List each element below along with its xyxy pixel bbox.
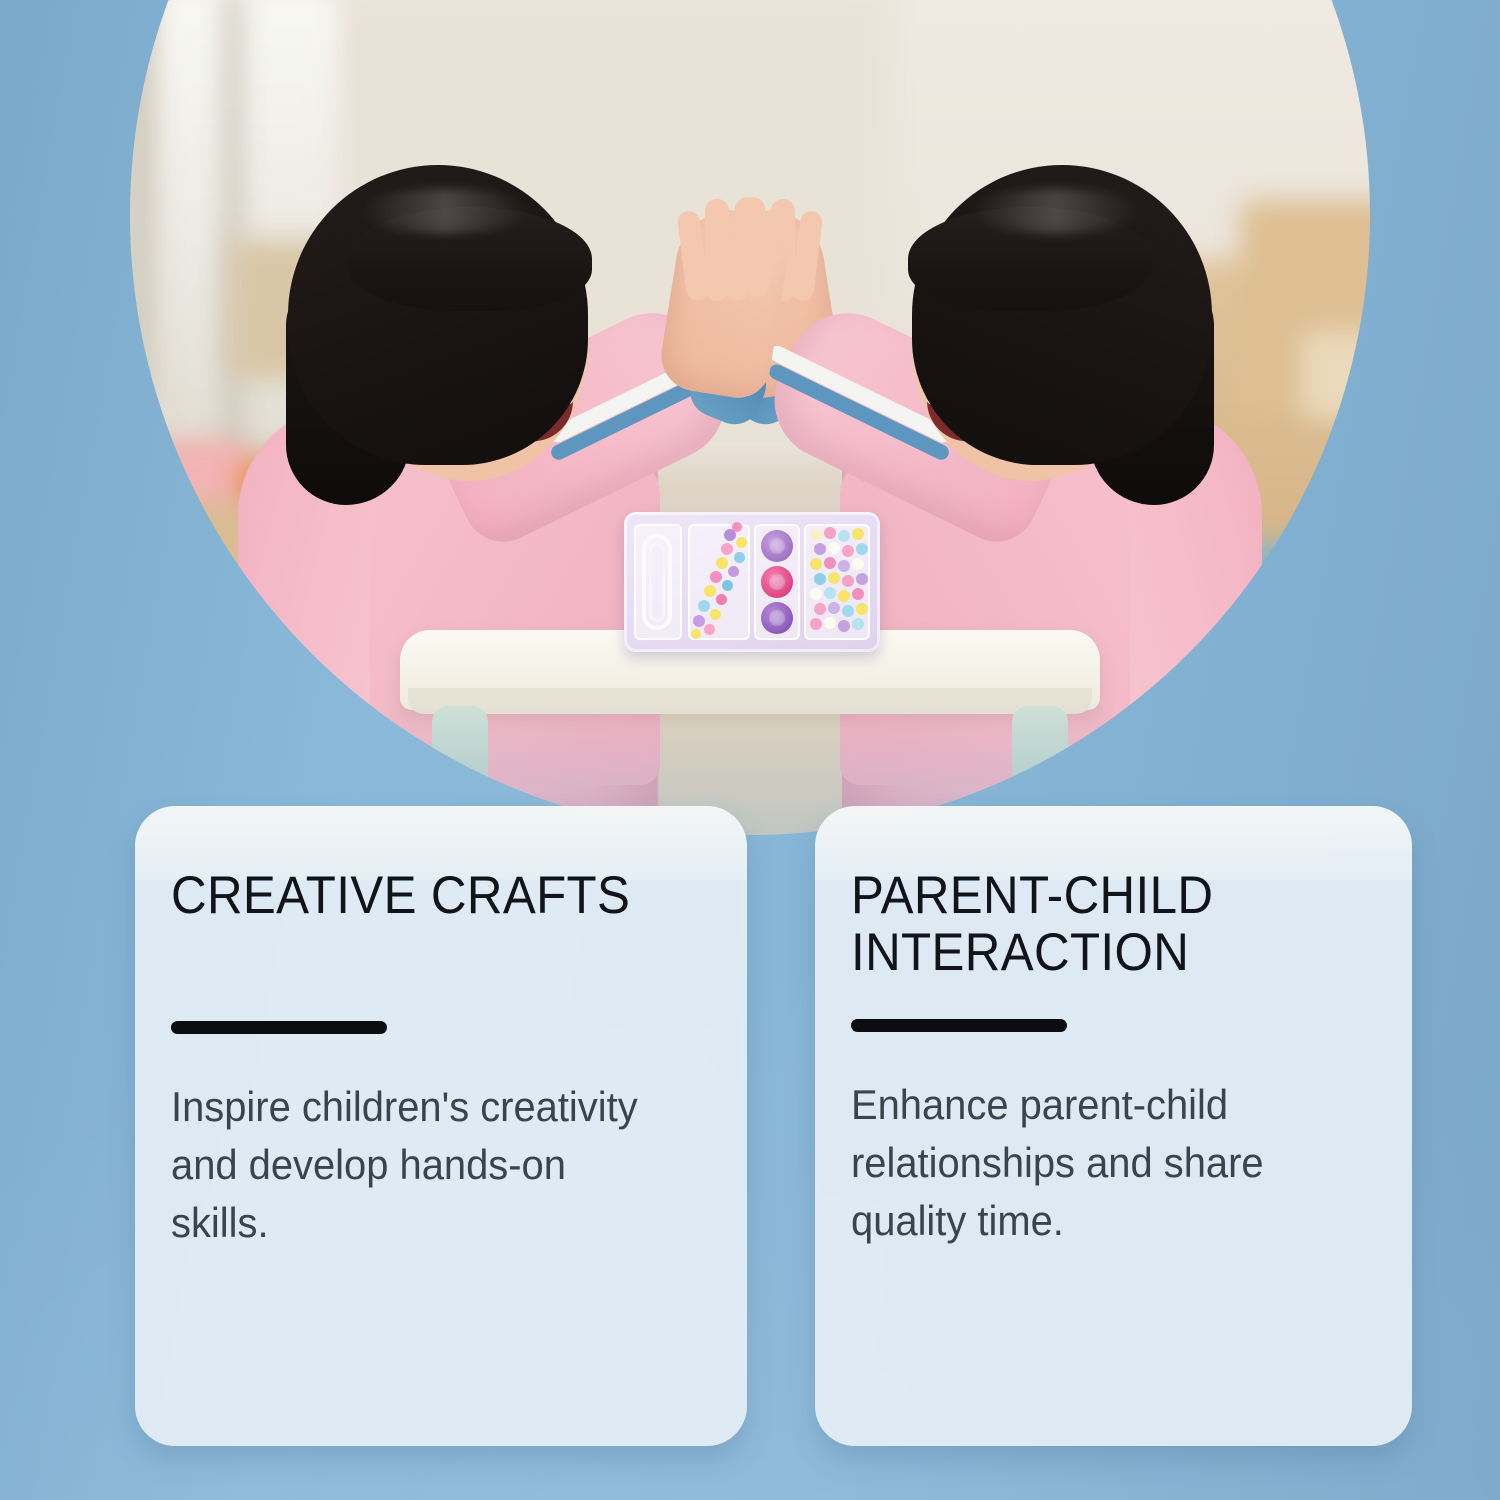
kit-bead xyxy=(810,588,822,600)
kit-bead xyxy=(734,552,745,563)
kit-bead xyxy=(728,566,739,577)
kit-bead xyxy=(838,560,850,572)
kit-bead xyxy=(721,543,733,555)
kit-bead xyxy=(856,573,868,585)
feature-card-body: Enhance parent-child relationships and s… xyxy=(851,1076,1345,1250)
kit-bead xyxy=(856,603,868,615)
feature-card-divider xyxy=(851,1019,1067,1032)
kit-bead xyxy=(828,542,840,554)
kit-rose-purple-top xyxy=(761,530,793,562)
kit-bead xyxy=(828,602,840,614)
child-right-finger xyxy=(705,199,729,301)
kit-bead xyxy=(716,557,728,569)
kit-bead xyxy=(810,529,822,541)
kit-bead xyxy=(710,571,722,583)
kit-bead xyxy=(842,545,854,557)
kit-bead xyxy=(842,575,854,587)
kit-bead xyxy=(838,590,850,602)
kit-bead xyxy=(704,624,715,635)
kit-bead xyxy=(852,558,864,570)
kit-bead xyxy=(824,557,836,569)
kit-rose-pink-middle xyxy=(761,566,793,598)
feature-card-content: PARENT-CHILD INTERACTION Enhance parent-… xyxy=(851,868,1382,1250)
feature-card-title: PARENT-CHILD INTERACTION xyxy=(851,868,1345,981)
kit-bead xyxy=(824,587,836,599)
feature-card-title: CREATIVE CRAFTS xyxy=(171,868,679,925)
kids-table-edge xyxy=(408,688,1092,714)
kit-rose-purple-bottom xyxy=(761,602,793,634)
kit-bead xyxy=(732,522,742,532)
feature-card-body: Inspire children's creativity and develo… xyxy=(171,1078,665,1252)
kit-bead xyxy=(810,558,822,570)
kit-bead xyxy=(814,603,826,615)
kit-bead xyxy=(722,580,733,591)
kit-bead xyxy=(716,594,727,605)
kit-bead xyxy=(698,600,710,612)
kit-bead xyxy=(736,537,747,548)
kit-bead xyxy=(838,530,850,542)
kit-bead xyxy=(704,585,716,597)
kit-bead xyxy=(852,618,864,630)
kit-bead xyxy=(710,609,721,620)
kit-elastic-cord-inner xyxy=(649,542,665,622)
kit-bead xyxy=(828,572,840,584)
bead-craft-kit xyxy=(624,512,880,652)
feature-card-divider xyxy=(171,1021,387,1034)
kit-bead xyxy=(810,618,822,630)
kit-bead xyxy=(852,588,864,600)
feature-card-creative-crafts[interactable]: CREATIVE CRAFTS Inspire children's creat… xyxy=(135,806,747,1446)
feature-card-content: CREATIVE CRAFTS Inspire children's creat… xyxy=(171,868,717,1252)
kit-bead xyxy=(693,615,705,627)
kit-bead xyxy=(852,528,864,540)
feature-card-parent-child-interaction[interactable]: PARENT-CHILD INTERACTION Enhance parent-… xyxy=(815,806,1412,1446)
kit-bead xyxy=(838,620,850,632)
kit-bead xyxy=(856,543,868,555)
child-right-hair-highlight xyxy=(970,189,1140,233)
kit-bead xyxy=(824,527,836,539)
kit-bead xyxy=(842,605,854,617)
product-feature-banner: CREATIVE CRAFTS Inspire children's creat… xyxy=(0,0,1500,1500)
kit-bead xyxy=(691,629,701,639)
kit-bead xyxy=(814,543,826,555)
kit-bead xyxy=(824,617,836,629)
kit-bead xyxy=(814,573,826,585)
child-left-hair-highlight xyxy=(360,189,530,233)
